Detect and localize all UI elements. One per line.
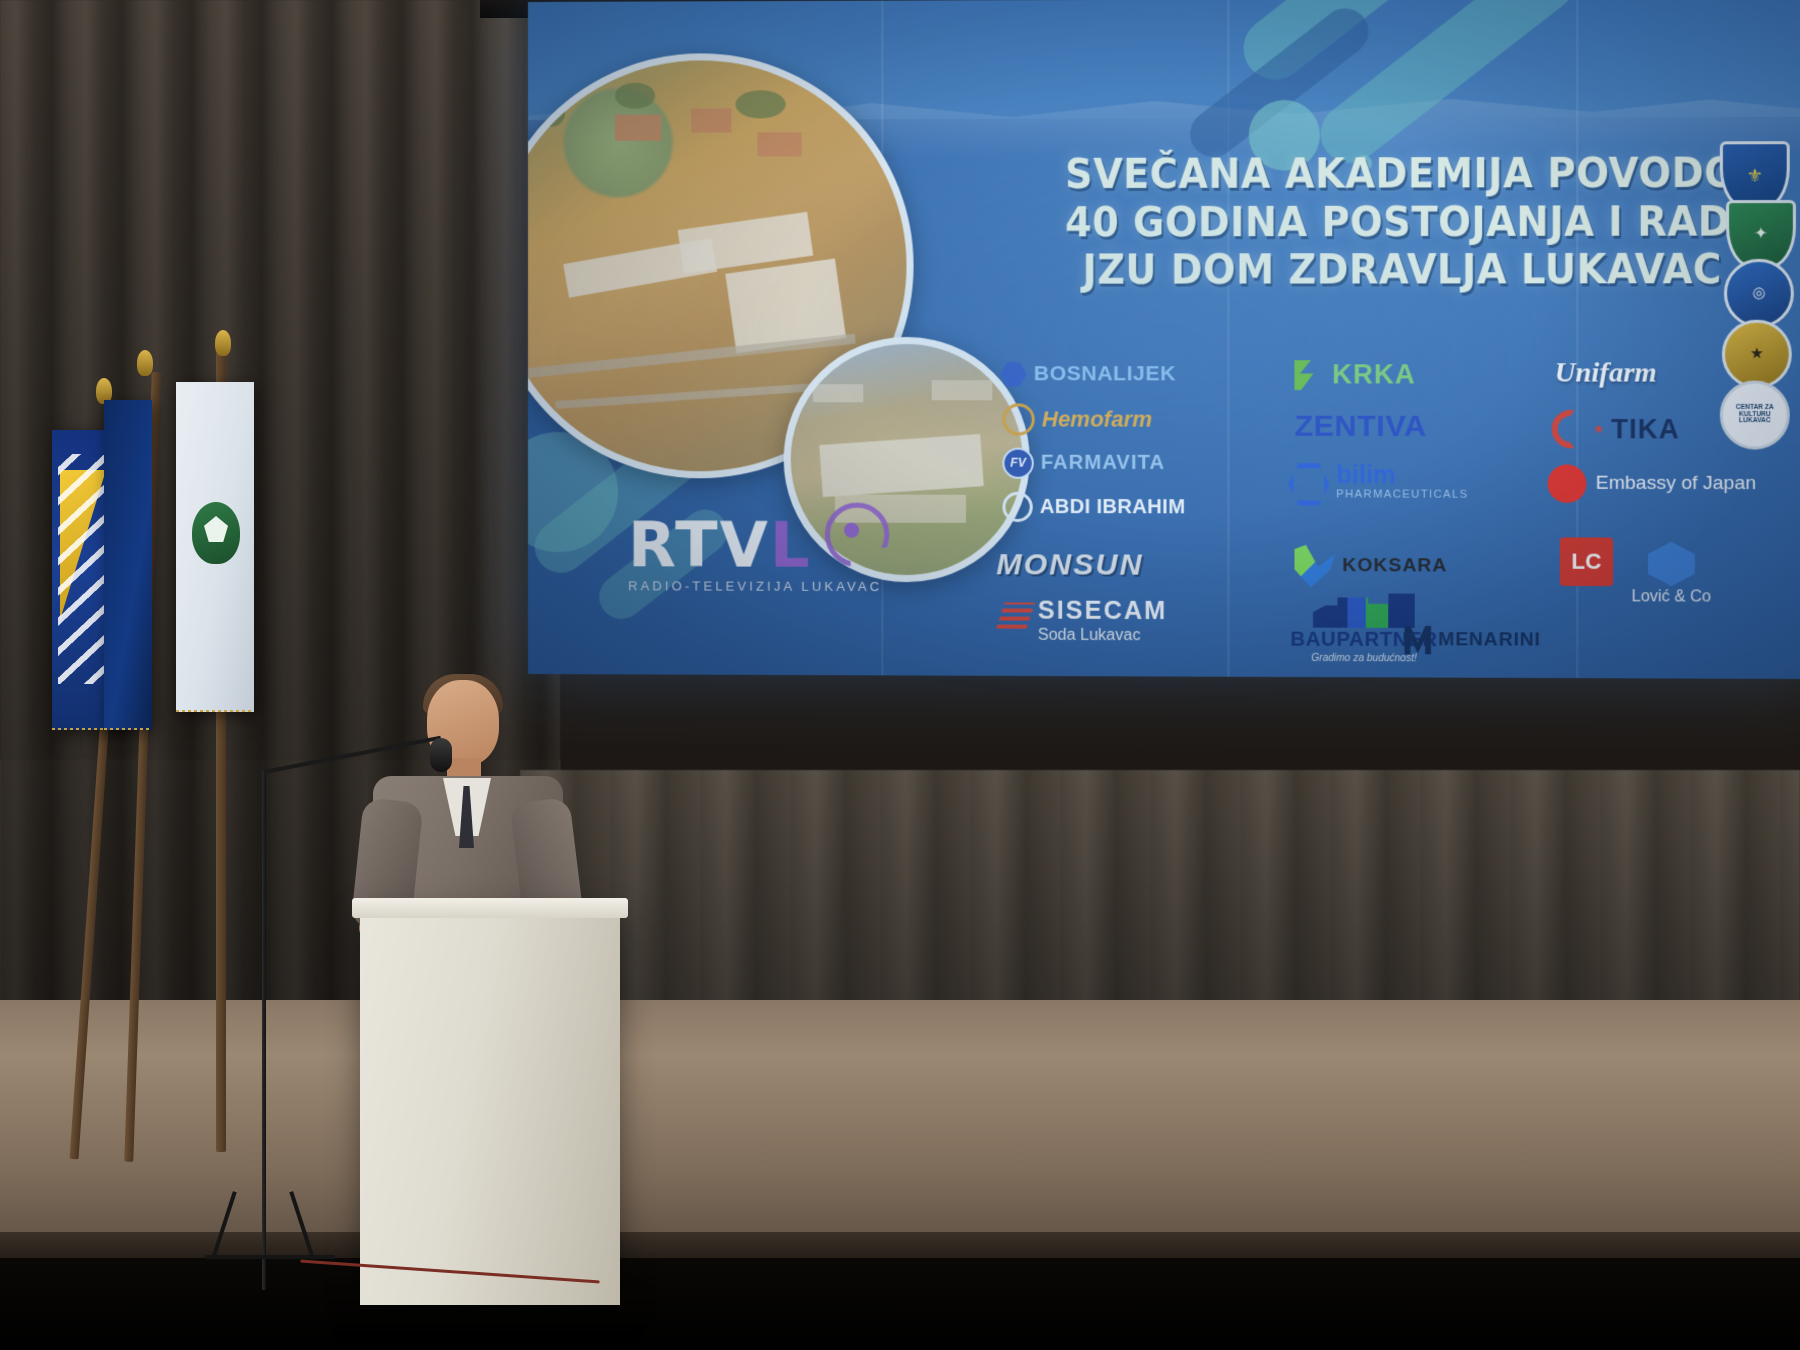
projection-screen: SVEČANA AKADEMIJA POVODOM 40 GODINA POST…: [528, 0, 1800, 679]
sponsor-abdi-ibrahim: ABDI IBRAHIM: [1002, 492, 1185, 523]
rtvl-logo: RTVL RADIO-TELEVIZIJA LUKAVAC: [628, 514, 920, 611]
centar-za-kulturu-seal: CENTAR ZA KULTURU LUKAVAC: [1720, 381, 1790, 450]
sponsor-label: Unifarm: [1555, 357, 1657, 389]
sponsor-farmavita: FV FARMAVITA: [1002, 448, 1165, 479]
sponsor-sublabel: Soda Lukavac: [1038, 627, 1168, 646]
ring-icon: [1002, 492, 1032, 522]
red-lines-icon: [996, 602, 1035, 628]
hexagon-icon: [1000, 361, 1026, 387]
sponsor-label: BOSNALIJEK: [1034, 362, 1176, 386]
flag-finial-icon: [137, 350, 153, 376]
red-disc-icon: [1548, 464, 1587, 503]
microphone-stand: [262, 770, 266, 1290]
m-icon: [1405, 626, 1432, 654]
sponsor-zentiva: ZENTIVA: [1294, 410, 1426, 444]
microphone-head: [430, 738, 452, 772]
sponsor-unifarm: Unifarm: [1555, 357, 1657, 389]
sponsor-label: KOKSARA: [1342, 555, 1447, 577]
mic-stand-base: [205, 1255, 335, 1259]
sponsor-label: Lović & Co: [1632, 588, 1711, 606]
orchestra-pit-dark: [0, 1258, 1800, 1350]
sponsor-label: SISECAM: [1038, 597, 1168, 627]
sponsor-label: MENARINI: [1438, 629, 1541, 652]
flag-finial-icon: [215, 330, 231, 356]
sponsor-sublabel: PHARMACEUTICALS: [1336, 488, 1468, 500]
sponsor-bosnalijek: BOSNALIJEK: [1000, 361, 1176, 387]
sponsor-label: KRKA: [1332, 359, 1416, 390]
sponsor-menarini: MENARINI: [1405, 626, 1541, 655]
sponsor-bilim: bilim PHARMACEUTICALS: [1288, 463, 1468, 506]
presentation-headline: SVEČANA AKADEMIJA POVODOM 40 GODINA POST…: [1065, 149, 1722, 294]
sponsor-label: FARMAVITA: [1041, 452, 1165, 475]
headline-line-1: SVEČANA AKADEMIJA POVODOM: [1065, 149, 1722, 198]
blue-ring-seal: ◎: [1724, 259, 1794, 328]
screenshot-root: SVEČANA AKADEMIJA POVODOM 40 GODINA POST…: [0, 0, 1800, 1350]
red-square-icon: LC: [1560, 537, 1613, 586]
sponsor-hemofarm: Hemofarm: [1002, 403, 1152, 435]
k-icon: [1294, 360, 1325, 390]
headline-line-2: 40 GODINA POSTOJANJA I RADA: [1065, 198, 1722, 247]
lectern: [360, 905, 620, 1305]
circle-icon: [1002, 403, 1034, 435]
broadcast-dot-icon: [844, 523, 859, 538]
sponsor-monsun: MONSUN: [996, 548, 1143, 583]
sponsor-label: MONSUN: [996, 548, 1143, 583]
sponsor-embassy-of-japan: Embassy of Japan: [1548, 464, 1757, 503]
blue-diamond-icon: [1648, 542, 1695, 587]
crescent-star-icon: [1552, 410, 1591, 449]
sponsor-label: bilim: [1336, 463, 1468, 488]
sponsor-sisecam: SISECAM Soda Lukavac: [1000, 596, 1167, 645]
lukavac-municipal-flag: [176, 382, 254, 712]
sponsor-krka: KRKA: [1294, 359, 1415, 390]
sponsor-lc: LC: [1560, 537, 1613, 586]
sponsor-label: TIKA: [1611, 413, 1680, 444]
green-arrow-icon: [1294, 545, 1335, 587]
yellow-emblem-seal: ★: [1722, 320, 1792, 389]
b-hexagon-icon: [1288, 463, 1329, 505]
rtvl-tagline: RADIO-TELEVIZIJA LUKAVAC: [628, 578, 920, 594]
sponsor-label: Embassy of Japan: [1596, 473, 1756, 496]
fv-circle-icon: FV: [1002, 448, 1033, 479]
sponsor-sublabel: Gradimo za budućnost!: [1311, 653, 1416, 664]
sponsor-logo-grid: BOSNALIJEK Hemofarm FV FARMAVITA ABDI IB…: [990, 347, 1800, 652]
stage-floor: [0, 1000, 1800, 1250]
lectern-top-surface: [352, 898, 628, 918]
sponsor-tika: TIKA: [1552, 410, 1680, 449]
headline-line-3: JZU DOM ZDRAVLJA LUKAVAC: [1065, 246, 1722, 295]
sponsor-label: Hemofarm: [1042, 406, 1152, 432]
sponsor-koksara: KOKSARA: [1294, 545, 1447, 588]
star-icon: [1594, 424, 1604, 434]
sponsor-lovic-co: Lović & Co: [1632, 542, 1711, 607]
sponsor-label: ZENTIVA: [1294, 410, 1426, 444]
second-flag: [104, 400, 152, 730]
buildings-icon: [1313, 593, 1415, 628]
sponsor-label: ABDI IBRAHIM: [1040, 495, 1185, 518]
